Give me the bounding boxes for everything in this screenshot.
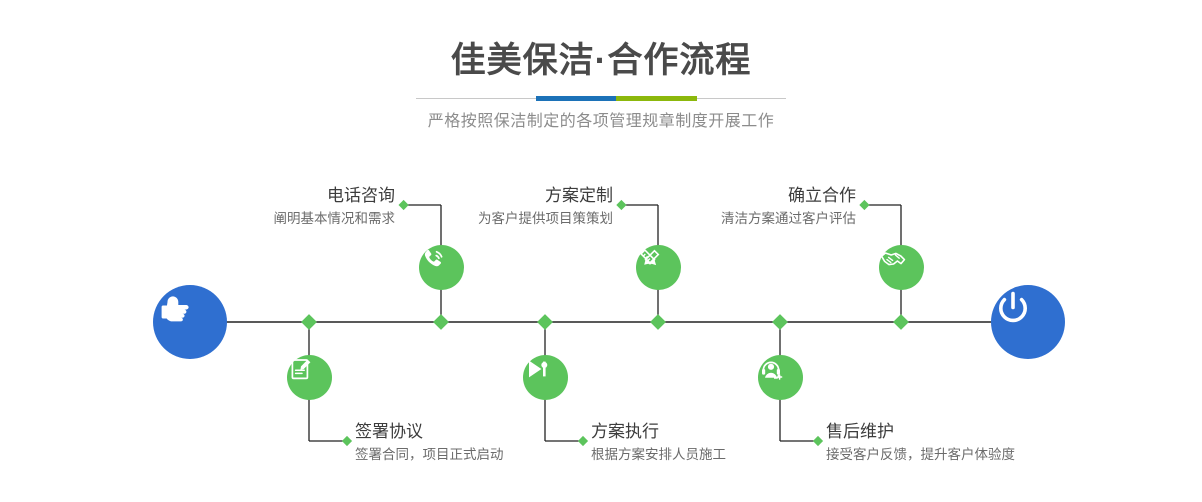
timeline-diagram: 电话咨询 阐明基本情况和需求 方案定制 为客户提供项目策策划 确立合作 清洁方案… xyxy=(0,0,1202,502)
step-5-icon-circle[interactable] xyxy=(879,245,924,290)
step-3-title: 方案定制 xyxy=(370,185,613,207)
step-2-label: 签署协议 签署合同，项目正式启动 xyxy=(355,421,615,465)
step-1-desc: 阐明基本情况和需求 xyxy=(150,207,395,229)
step-5-title: 确立合作 xyxy=(613,185,856,207)
step-5-desc: 清洁方案通过客户评估 xyxy=(613,207,856,229)
spine-diamond-step-5 xyxy=(893,314,909,330)
pencil-ruler-icon xyxy=(636,245,664,273)
pointing-hand-icon xyxy=(153,285,197,329)
step-2-title: 签署协议 xyxy=(355,421,615,443)
step-6-desc: 接受客户反馈，提升客户体验度 xyxy=(826,443,1126,465)
phone-call-icon xyxy=(419,245,447,273)
step-3-icon-circle[interactable] xyxy=(636,245,681,290)
step-4-icon-circle[interactable] xyxy=(523,355,568,400)
step-4-desc: 根据方案安排人员施工 xyxy=(591,443,851,465)
play-execute-icon xyxy=(523,355,551,383)
spine-diamond-step-2 xyxy=(301,314,317,330)
spine-diamond-step-4 xyxy=(537,314,553,330)
step-1-title: 电话咨询 xyxy=(150,185,395,207)
process-flow-infographic: 佳美保洁·合作流程 严格按照保洁制定的各项管理规章制度开展工作 xyxy=(0,0,1202,502)
spine-diamond-step-3 xyxy=(650,314,666,330)
step-2-icon-circle[interactable] xyxy=(287,355,332,400)
step-6-title: 售后维护 xyxy=(826,421,1126,443)
headset-support-icon xyxy=(758,355,786,383)
step-6-label: 售后维护 接受客户反馈，提升客户体验度 xyxy=(826,421,1126,465)
step-5-label: 确立合作 清洁方案通过客户评估 xyxy=(613,185,856,229)
power-icon xyxy=(991,285,1035,329)
end-node[interactable] xyxy=(991,285,1065,359)
handshake-icon xyxy=(879,245,907,273)
step-1-icon-circle[interactable] xyxy=(419,245,464,290)
step-4-label: 方案执行 根据方案安排人员施工 xyxy=(591,421,851,465)
start-node[interactable] xyxy=(153,285,227,359)
spine-diamond-step-6 xyxy=(772,314,788,330)
label-diamond-step-5 xyxy=(859,200,869,210)
spine-diamond-step-1 xyxy=(433,314,449,330)
label-diamond-step-2 xyxy=(342,436,352,446)
step-4-title: 方案执行 xyxy=(591,421,851,443)
step-3-desc: 为客户提供项目策策划 xyxy=(370,207,613,229)
step-3-label: 方案定制 为客户提供项目策策划 xyxy=(370,185,613,229)
document-edit-icon xyxy=(287,355,315,383)
step-2-desc: 签署合同，项目正式启动 xyxy=(355,443,615,465)
step-1-label: 电话咨询 阐明基本情况和需求 xyxy=(150,185,395,229)
step-6-icon-circle[interactable] xyxy=(758,355,803,400)
